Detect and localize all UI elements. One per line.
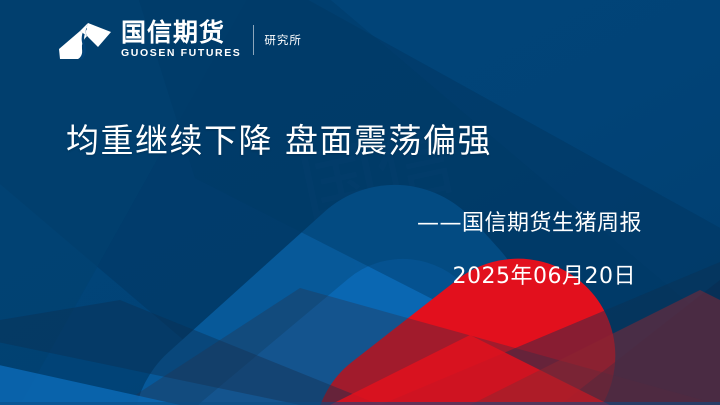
- logo-divider: [253, 25, 254, 55]
- cover-date: 2025年06月20日: [453, 262, 636, 292]
- brand-logo-lockup: 国信期货 GUOSEN FUTURES 研究所: [57, 17, 302, 63]
- cover-subtitle: ——国信期货生猪周报: [417, 208, 642, 240]
- brand-name-en: GUOSEN FUTURES: [121, 47, 241, 60]
- brand-wordmark: 国信期货 GUOSEN FUTURES: [121, 18, 241, 62]
- report-cover-slide: 国信 期货: [0, 0, 720, 405]
- cover-title: 均重继续下降 盘面震荡偏强: [66, 119, 492, 163]
- brand-department-label: 研究所: [264, 32, 302, 48]
- brand-name-cn: 国信期货: [121, 20, 241, 46]
- guosen-swoosh-logo-icon: [57, 18, 113, 62]
